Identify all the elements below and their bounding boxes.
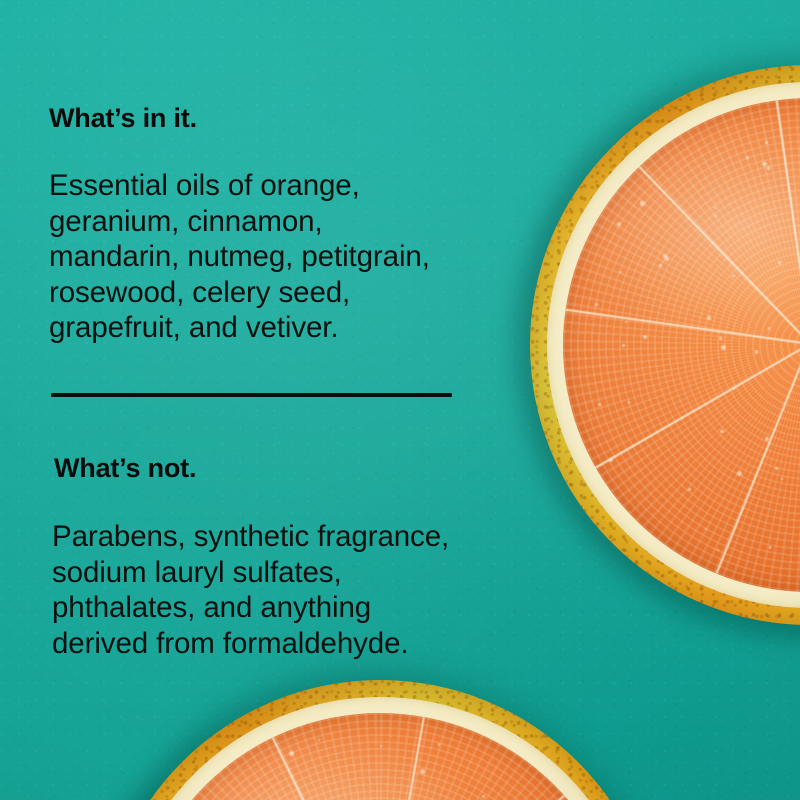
body-whats-in-it: Essential oils of orange, geranium, cinn… — [49, 168, 430, 346]
product-ingredient-card: What’s in it. Essential oils of orange, … — [0, 0, 800, 800]
heading-whats-not: What’s not. — [54, 453, 196, 484]
body-whats-not: Parabens, synthetic fragrance, sodium la… — [52, 519, 449, 661]
copy-block: What’s in it. Essential oils of orange, … — [0, 0, 560, 800]
heading-whats-in-it: What’s in it. — [49, 103, 197, 134]
section-divider — [51, 393, 452, 397]
